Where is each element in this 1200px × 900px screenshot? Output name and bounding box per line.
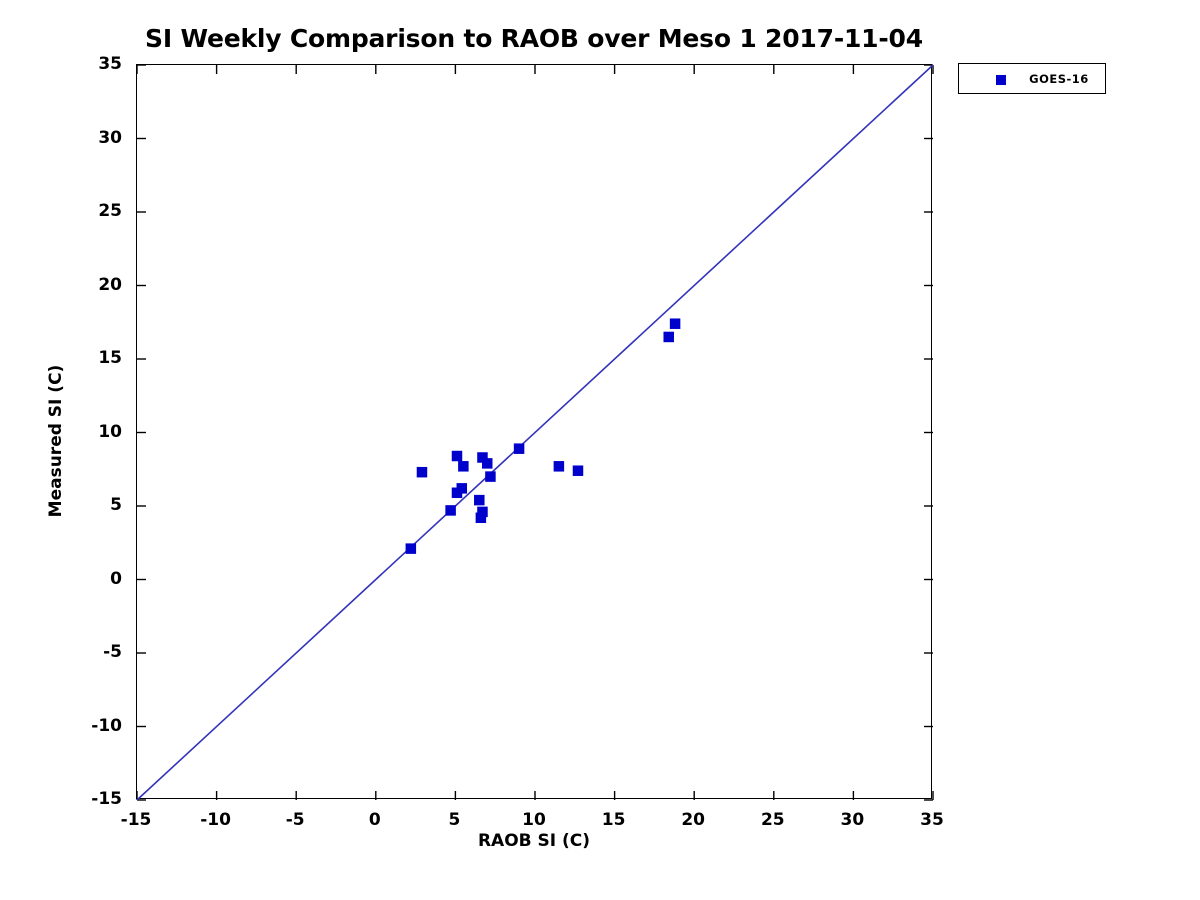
data-point-marker: [474, 495, 485, 506]
data-point-marker: [477, 507, 488, 518]
data-point-marker: [452, 451, 463, 462]
y-tick-label: 30: [78, 128, 122, 148]
data-point-marker: [663, 332, 674, 343]
data-point-marker: [445, 505, 456, 516]
y-tick-label: 25: [78, 201, 122, 221]
y-tick-label: -5: [78, 642, 122, 662]
y-tick-label: 0: [78, 569, 122, 589]
data-point-marker: [417, 467, 428, 478]
data-point-marker: [485, 471, 496, 482]
x-axis-title: RAOB SI (C): [136, 831, 932, 851]
x-tick-label: 35: [920, 810, 944, 830]
data-point-marker: [482, 458, 493, 469]
y-tick-label: -10: [78, 716, 122, 736]
x-tick-label: 15: [602, 810, 626, 830]
plot-area: [136, 64, 932, 799]
x-tick-label: 20: [681, 810, 705, 830]
data-point-marker: [458, 461, 469, 472]
data-point-marker: [406, 543, 417, 554]
data-point-group: [406, 318, 681, 553]
data-point-marker: [670, 318, 681, 329]
y-tick-label: 20: [78, 275, 122, 295]
x-tick-label: -5: [286, 810, 305, 830]
y-tick-label: 15: [78, 348, 122, 368]
y-tick-label: 5: [78, 495, 122, 515]
y-tick-label: 10: [78, 422, 122, 442]
chart-figure: SI Weekly Comparison to RAOB over Meso 1…: [0, 0, 1200, 900]
x-tick-label: 10: [522, 810, 546, 830]
x-tick-label: -15: [121, 810, 152, 830]
chart-legend[interactable]: GOES-16: [958, 63, 1106, 94]
data-point-marker: [514, 443, 525, 454]
chart-title: SI Weekly Comparison to RAOB over Meso 1…: [136, 24, 932, 53]
x-tick-label: 30: [841, 810, 865, 830]
y-tick-label: -15: [78, 789, 122, 809]
blue-square-marker-icon: [996, 75, 1006, 85]
x-tick-label: 0: [369, 810, 381, 830]
data-point-marker: [573, 465, 584, 476]
plot-canvas: [137, 65, 933, 800]
legend-entry-label: GOES-16: [1021, 72, 1097, 86]
x-tick-label: 5: [448, 810, 460, 830]
x-tick-label: 25: [761, 810, 785, 830]
data-point-marker: [554, 461, 565, 472]
y-axis-title: Measured SI (C): [46, 351, 66, 531]
one-to-one-reference-line: [137, 65, 933, 800]
y-tick-label: 35: [78, 54, 122, 74]
data-point-marker: [457, 483, 468, 494]
x-tick-label: -10: [200, 810, 231, 830]
